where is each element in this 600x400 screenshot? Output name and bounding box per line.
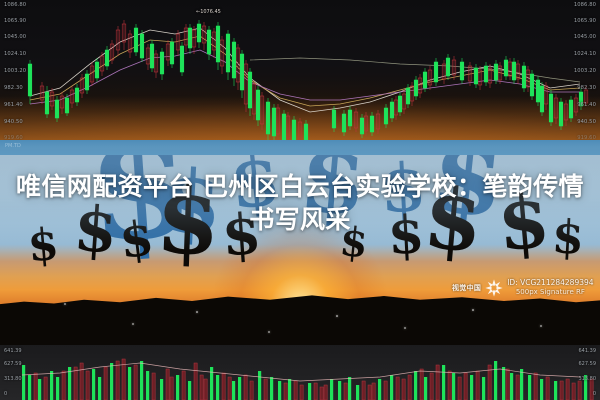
sparkle-dot	[472, 309, 474, 311]
watermark-id: ID: VCG211284289394	[507, 279, 593, 288]
sparkle-dot	[132, 323, 134, 325]
kline-axis-right-6: 961.40	[577, 102, 596, 108]
sparkle-dot	[268, 331, 270, 333]
volume-axis-right-1: 627.59	[579, 361, 597, 367]
volume-bars	[22, 359, 593, 400]
kline-peak-annotation: ←1076.45	[196, 9, 221, 15]
page-title-line-2: 书写风采	[249, 203, 351, 236]
candlestick-chart-svg	[0, 0, 600, 145]
kline-axis-left-2: 1045.00	[4, 34, 26, 40]
kline-axis-left-3: 1024.10	[4, 51, 26, 57]
kline-axis-right-3: 1024.10	[574, 51, 596, 57]
kline-axis-left-1: 1065.90	[4, 18, 26, 24]
kline-axis-left-0: 1086.80	[4, 2, 26, 8]
stock-photo-watermark: 视觉中国 ID: VCG211284289394 500px Signature…	[452, 278, 594, 298]
hero-banner: $ $ $ $ $ $ $ $ $ $ $ $ $ $ $ $ 唯信网	[0, 155, 600, 345]
sparkle-dot	[336, 315, 338, 317]
volume-chart-panel: 641.39 627.59 313.80 0 641.39 627.59 313…	[0, 345, 600, 400]
kline-axis-right-2: 1045.00	[574, 34, 596, 40]
volume-axis-left-2: 313.80	[4, 376, 22, 382]
volume-axis-right-0: 641.39	[579, 348, 597, 354]
volume-axis-left-1: 627.59	[4, 361, 22, 367]
kline-axis-right-1: 1065.90	[574, 18, 596, 24]
vcg-star-icon	[484, 278, 504, 298]
page-title: 唯信网配资平台 巴州区白云台实验学校：笔韵传情 书写风采	[0, 155, 600, 251]
volume-axis-left-0: 641.39	[4, 348, 22, 354]
time-band-label: PM.TD	[5, 143, 21, 149]
kline-axis-left-6: 961.40	[4, 102, 23, 108]
kline-axis-left-5: 982.30	[4, 85, 23, 91]
volume-chart-svg	[0, 345, 600, 400]
kline-axis-right-0: 1086.80	[574, 2, 596, 8]
sparkle-dot	[540, 325, 542, 327]
page-title-line-1: 唯信网配资平台 巴州区白云台实验学校：笔韵传情	[16, 170, 584, 203]
watermark-brand-label: 视觉中国	[452, 283, 481, 293]
candlestick-chart-panel: 1086.80 1065.90 1045.00 1024.10 1003.20 …	[0, 0, 600, 155]
kline-axis-right-5: 982.30	[577, 85, 596, 91]
sparkle-dot	[404, 327, 406, 329]
volume-axis-right-2: 313.80	[579, 376, 597, 382]
article-header-image: 1086.80 1065.90 1045.00 1024.10 1003.20 …	[0, 0, 600, 400]
watermark-license: 500px Signature RF	[507, 288, 593, 296]
kline-axis-right-7: 940.50	[577, 119, 596, 125]
watermark-text-block: ID: VCG211284289394 500px Signature RF	[507, 279, 593, 296]
kline-axis-left-4: 1003.20	[4, 68, 26, 74]
volume-axis-left-3: 0	[4, 391, 7, 397]
kline-time-band: PM.TD	[0, 140, 600, 155]
sparkle-dot	[196, 311, 198, 313]
volume-axis-right-3: 0	[593, 391, 596, 397]
sparkle-dot	[64, 303, 66, 305]
kline-axis-left-7: 940.50	[4, 119, 23, 125]
kline-axis-right-4: 1003.20	[574, 68, 596, 74]
